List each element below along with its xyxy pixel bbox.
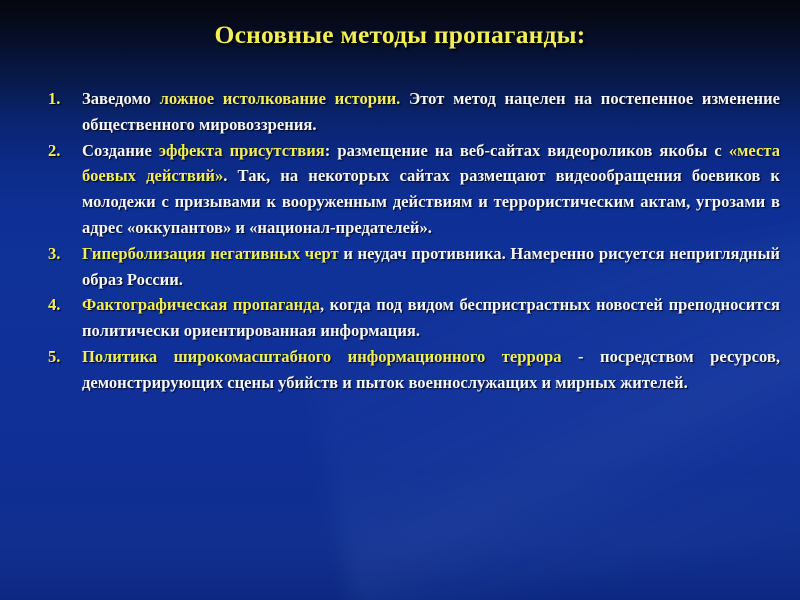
highlighted-phrase: Фактографическая пропаганда	[82, 295, 320, 314]
body-phrase: Создание	[82, 141, 159, 160]
method-item-number: 1.	[48, 86, 74, 112]
method-item: 2.Создание эффекта присутствия: размещен…	[0, 138, 800, 241]
slide-title: Основные методы пропаганды:	[215, 20, 586, 50]
body-phrase: : размещение на веб-сайтах видеороликов …	[325, 141, 729, 160]
highlighted-phrase: Политика широкомасштабного информационно…	[82, 347, 562, 366]
highlighted-phrase: эффекта присутствия	[159, 141, 325, 160]
method-item-text: Политика широкомасштабного информационно…	[82, 344, 780, 396]
method-item: 3.Гиперболизация негативных черт и неуда…	[0, 241, 800, 293]
method-item: 1.Заведомо ложное истолкование истории. …	[0, 86, 800, 138]
method-item-text: Создание эффекта присутствия: размещение…	[82, 138, 780, 241]
method-item-number: 3.	[48, 241, 74, 267]
method-item: 5.Политика широкомасштабного информацион…	[0, 344, 800, 396]
method-item-text: Фактографическая пропаганда, когда под в…	[82, 292, 780, 344]
method-item-text: Гиперболизация негативных черт и неудач …	[82, 241, 780, 293]
highlighted-phrase: Гиперболизация негативных черт	[82, 244, 339, 263]
method-item-number: 2.	[48, 138, 74, 164]
method-item-number: 4.	[48, 292, 74, 318]
method-item-number: 5.	[48, 344, 74, 370]
presentation-slide: Основные методы пропаганды: 1.Заведомо л…	[0, 0, 800, 600]
method-item: 4.Фактографическая пропаганда, когда под…	[0, 292, 800, 344]
background-light-band	[0, 470, 800, 600]
method-item-text: Заведомо ложное истолкование истории. Эт…	[82, 86, 780, 138]
methods-list: 1.Заведомо ложное истолкование истории. …	[0, 86, 800, 396]
highlighted-phrase: ложное истолкование истории.	[160, 89, 401, 108]
slide-title-container: Основные методы пропаганды:	[0, 20, 800, 50]
slide-body: 1.Заведомо ложное истолкование истории. …	[0, 86, 800, 396]
body-phrase: Заведомо	[82, 89, 160, 108]
